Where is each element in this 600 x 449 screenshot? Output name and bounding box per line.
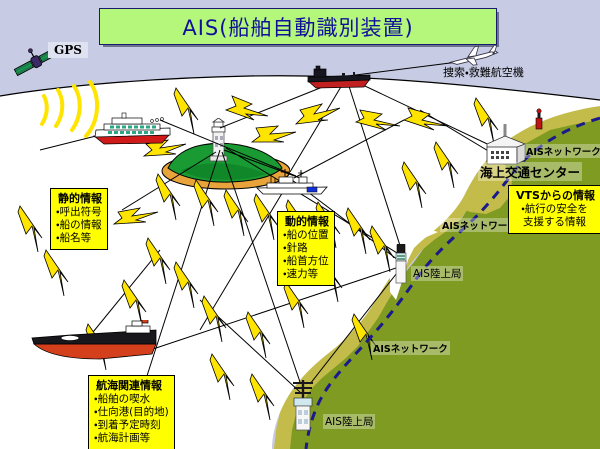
voyage-info-item-1: ・仕向港(目的地) <box>94 406 169 419</box>
ferry-ship-icon <box>92 112 176 148</box>
buoy-icon <box>533 108 545 132</box>
voyage-info-heading: 航海関連情報 <box>94 379 169 392</box>
voyage-info-item-3: ・航海計画等 <box>94 432 169 445</box>
static-info-box: 静的情報 ・呼出符号 ・船の情報 ・船名等 <box>50 188 108 250</box>
dynamic-info-item-2: ・船首方位 <box>283 255 329 268</box>
ais-network-label-2: AISネットワーク <box>440 218 519 232</box>
shore-station-tower-icon <box>288 380 318 432</box>
static-info-item-1: ・船の情報 <box>56 219 102 232</box>
dynamic-info-item-3: ・速力等 <box>283 268 329 281</box>
static-info-item-0: ・呼出符号 <box>56 206 102 219</box>
dynamic-info-item-0: ・船の位置 <box>283 229 329 242</box>
cargo-ship-icon <box>306 65 374 91</box>
static-info-item-2: ・船名等 <box>56 232 102 245</box>
ais-shore-station-label-2: AIS陸上局 <box>323 414 375 429</box>
traffic-center-building-icon <box>481 124 527 166</box>
vts-info-item-1: 支援する情報 <box>514 216 595 229</box>
aircraft-label: 捜索・救難航空機 <box>441 64 526 80</box>
tanker-ship-icon <box>30 320 164 364</box>
voyage-info-item-2: ・到着予定時刻 <box>94 419 169 432</box>
vts-info-heading: VTSからの情報 <box>514 189 595 202</box>
ais-shore-station-label-1: AIS陸上局 <box>411 266 463 281</box>
patrol-ship-icon <box>255 168 331 196</box>
dynamic-info-item-1: ・針路 <box>283 242 329 255</box>
ais-diagram-canvas: AIS(船舶自動識別装置) GPS 捜索・救難航空機 <box>0 0 600 449</box>
dynamic-info-heading: 動的情報 <box>283 215 329 228</box>
page-title: AIS(船舶自動識別装置) <box>99 8 497 45</box>
vts-info-box: VTSからの情報 ・航行の安全を 支援する情報 <box>508 185 600 234</box>
ais-network-label-1: AISネットワーク <box>524 144 600 158</box>
dynamic-info-box: 動的情報 ・船の位置 ・針路 ・船首方位 ・速力等 <box>277 211 335 286</box>
static-info-heading: 静的情報 <box>56 192 102 205</box>
traffic-center-label: 海上交通センター <box>478 162 582 181</box>
ais-network-label-3: AISネットワーク <box>371 341 450 355</box>
gps-label: GPS <box>48 42 88 58</box>
voyage-info-box: 航海関連情報 ・船舶の喫水 ・仕向港(目的地) ・到着予定時刻 ・航海計画等 <box>88 375 175 449</box>
vts-info-item-0: ・航行の安全を <box>514 203 595 216</box>
shore-station-mast-icon <box>392 244 410 284</box>
voyage-info-item-0: ・船舶の喫水 <box>94 393 169 406</box>
